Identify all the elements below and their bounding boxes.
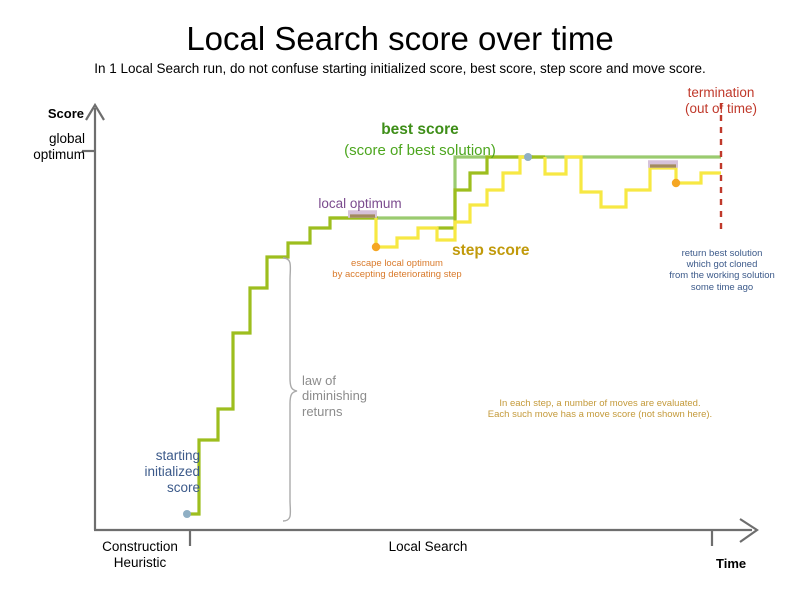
x-axis-phase-local-search: Local Search bbox=[358, 539, 498, 555]
page-subtitle: In 1 Local Search run, do not confuse st… bbox=[0, 61, 800, 77]
legend-best-score: best score bbox=[300, 121, 540, 139]
y-axis-title: Score bbox=[30, 106, 84, 121]
local-optimum-marker-2 bbox=[648, 164, 678, 166]
annotation-escape-local-optimum: escape local optimumby accepting deterio… bbox=[302, 258, 492, 280]
local-optimum-marker-1 bbox=[348, 214, 377, 216]
diminishing-returns-brace bbox=[283, 258, 297, 521]
diagram-canvas: Local Search score over time In 1 Local … bbox=[0, 0, 800, 600]
escape-step-dot-2 bbox=[672, 179, 680, 187]
page-title: Local Search score over time bbox=[0, 20, 800, 59]
legend-best-score-subtitle: (score of best solution) bbox=[290, 142, 550, 160]
annotation-moves-evaluated: In each step, a number of moves are eval… bbox=[455, 398, 745, 420]
y-axis-tick-label-global-optimum: globaloptimum bbox=[0, 131, 85, 163]
x-axis-phase-construction-heuristic: ConstructionHeuristic bbox=[92, 539, 188, 571]
x-axis-title: Time bbox=[716, 556, 776, 571]
annotation-local-optimum: local optimum bbox=[288, 196, 432, 212]
annotation-law-of-diminishing-returns: law ofdiminishingreturns bbox=[302, 373, 382, 419]
step-score-line-wandering bbox=[545, 157, 721, 207]
annotation-starting-initialized-score: startinginitializedscore bbox=[82, 448, 200, 496]
escape-step-dot-1 bbox=[372, 243, 380, 251]
starting-score-dot bbox=[183, 510, 191, 518]
annotation-return-best-solution: return best solutionwhich got clonedfrom… bbox=[648, 248, 796, 293]
annotation-termination: termination(out of time) bbox=[650, 85, 792, 117]
